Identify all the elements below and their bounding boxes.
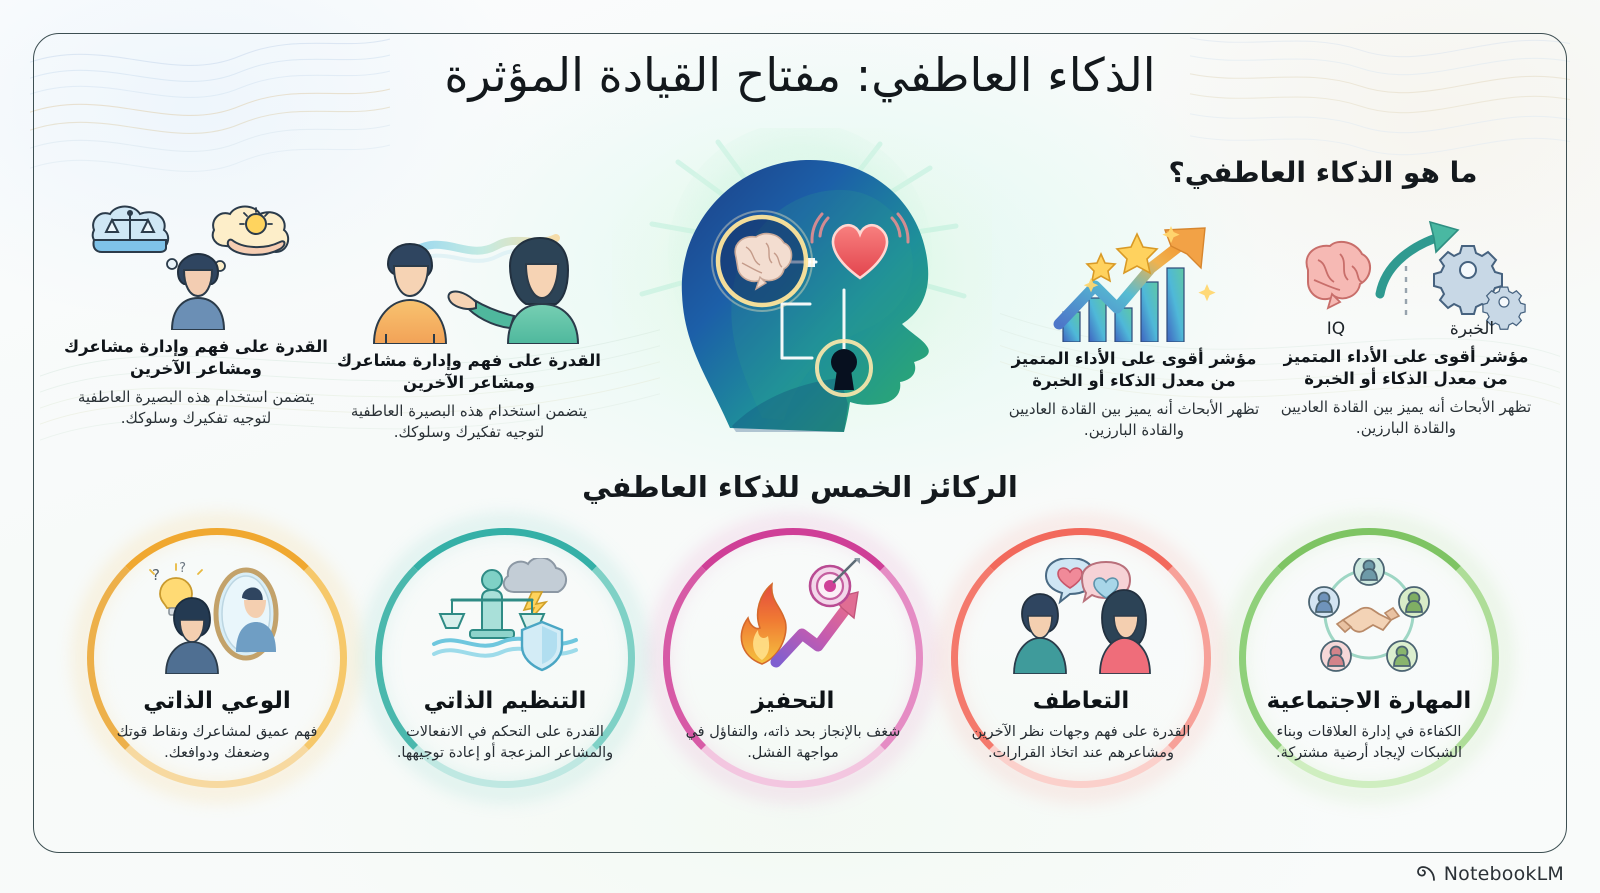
pillar-5-icon-wrap: [1222, 556, 1516, 676]
pillar-self-awareness[interactable]: ? ?: [70, 522, 364, 827]
person-thought-bubbles-icon: [80, 198, 312, 330]
pillar-3-title: التحفيز: [646, 688, 940, 714]
info-block-2-heading: القدرة على فهم وإدارة مشاعرك ومشاعر الآخ…: [335, 350, 603, 395]
pillars-row: ? ?: [70, 522, 1540, 827]
info-block-3-body: تظهر الأبحاث أنه يميز بين القادة العاديي…: [1000, 399, 1268, 442]
pillar-2-title: التنظيم الذاتي: [358, 688, 652, 714]
pillar-4-icon-wrap: [934, 556, 1228, 676]
infographic-poster: الذكاء العاطفي: مفتاح القيادة المؤثرة: [0, 0, 1600, 893]
svg-text:?: ?: [152, 566, 160, 584]
balance-scale-shield-storm-icon: [430, 558, 580, 674]
five-pillars-heading: الركائز الخمس للذكاء العاطفي: [0, 470, 1600, 504]
pillar-1-icon-wrap: ? ?: [70, 556, 364, 676]
info-block-1-heading: القدرة على فهم وإدارة مشاعرك ومشاعر الآخ…: [62, 336, 330, 381]
info-block-iq-vs-experience: IQ الخبرة مؤشر أقوى على الأداء المتميز م…: [1272, 208, 1540, 439]
hero-illustration: [612, 128, 992, 440]
info-block-4-icon-wrap: IQ الخبرة: [1272, 208, 1540, 340]
iq-brain-gears-arrow-icon: IQ الخبرة: [1282, 218, 1530, 340]
info-block-2-icon-wrap: [335, 212, 603, 344]
pillar-4-desc: القدرة على فهم وجهات نظر الآخرين ومشاعره…: [962, 722, 1200, 763]
pillar-social-skill[interactable]: المهارة الاجتماعية الكفاءة في إدارة العل…: [1222, 522, 1516, 827]
info-block-1-body: يتضمن استخدام هذه البصيرة العاطفية لتوجي…: [62, 387, 330, 430]
pillar-1-title: الوعي الذاتي: [70, 688, 364, 714]
pillar-empathy[interactable]: التعاطف القدرة على فهم وجهات نظر الآخرين…: [934, 522, 1228, 827]
pillar-4-title: التعاطف: [934, 688, 1228, 714]
svg-text:?: ?: [179, 561, 186, 576]
two-people-conversation-icon: [350, 224, 588, 344]
pillar-5-title: المهارة الاجتماعية: [1222, 688, 1516, 714]
network-handshake-social-skill-icon: [1292, 558, 1446, 674]
notebooklm-watermark: NotebookLM: [1416, 863, 1564, 885]
head-profile-brain-heart-keyhole-icon: [612, 128, 992, 440]
pillar-3-desc: شغف بالإنجاز بحد ذاته، والتفاؤل في مواجه…: [674, 722, 912, 763]
pillar-3-icon-wrap: [646, 556, 940, 676]
experience-label: الخبرة: [1450, 319, 1494, 339]
growth-chart-stars-icon: [1029, 220, 1239, 342]
notebooklm-spiral-icon: [1416, 864, 1437, 885]
what-is-ei-heading: ما هو الذكاء العاطفي؟: [1108, 156, 1538, 189]
page-title: الذكاء العاطفي: مفتاح القيادة المؤثرة: [0, 48, 1600, 102]
info-block-3-icon-wrap: [1000, 210, 1268, 342]
info-block-4-heading: مؤشر أقوى على الأداء المتميز من معدل الذ…: [1272, 346, 1540, 391]
info-block-4-body: تظهر الأبحاث أنه يميز بين القادة العاديي…: [1272, 397, 1540, 440]
pillar-motivation[interactable]: التحفيز شغف بالإنجاز بحد ذاته، والتفاؤل …: [646, 522, 940, 827]
notebooklm-label: NotebookLM: [1444, 863, 1564, 885]
pillar-2-icon-wrap: [358, 556, 652, 676]
info-block-3-heading: مؤشر أقوى على الأداء المتميز من معدل الذ…: [1000, 348, 1268, 393]
flame-target-arrow-motivation-icon: [718, 558, 868, 674]
pillar-2-desc: القدرة على التحكم في الانفعالات والمشاعر…: [386, 722, 624, 763]
pillar-5-desc: الكفاءة في إدارة العلاقات وبناء الشبكات …: [1250, 722, 1488, 763]
mirror-lightbulb-self-awareness-icon: ? ?: [142, 558, 292, 674]
info-block-2-body: يتضمن استخدام هذه البصيرة العاطفية لتوجي…: [335, 401, 603, 444]
info-block-understanding-feelings: القدرة على فهم وإدارة مشاعرك ومشاعر الآخ…: [62, 198, 330, 429]
info-block-conversation: القدرة على فهم وإدارة مشاعرك ومشاعر الآخ…: [335, 212, 603, 443]
pillar-1-desc: فهم عميق لمشاعرك ونقاط قوتك وضعفك ودوافع…: [98, 722, 336, 763]
pillar-self-regulation[interactable]: التنظيم الذاتي القدرة على التحكم في الان…: [358, 522, 652, 827]
two-people-hearts-empathy-icon: [1002, 558, 1160, 674]
iq-label: IQ: [1327, 319, 1345, 339]
info-block-1-icon-wrap: [62, 198, 330, 330]
info-block-performance-indicator: مؤشر أقوى على الأداء المتميز من معدل الذ…: [1000, 210, 1268, 441]
